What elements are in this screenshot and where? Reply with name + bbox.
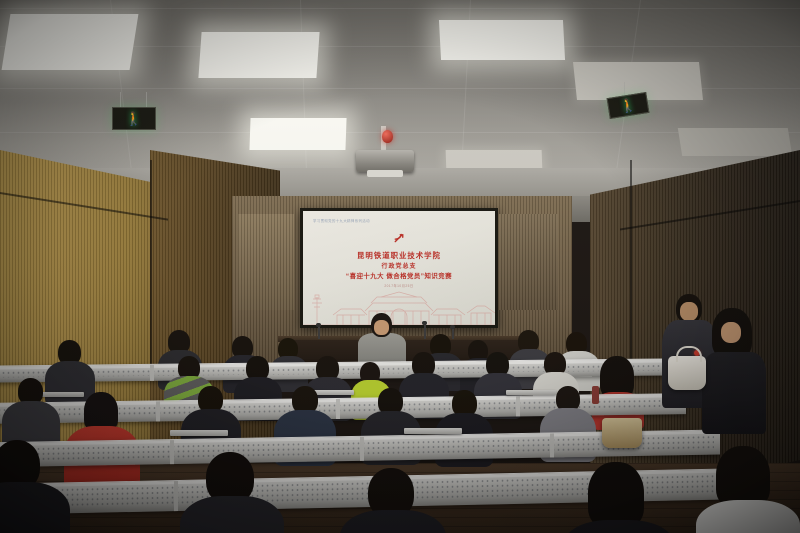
seated-speaker-face [374, 320, 389, 335]
panel-light-2 [198, 32, 319, 78]
exit-sign-right-wire [624, 82, 625, 96]
microphone-3-head [450, 325, 455, 329]
projection-screen-frame: 学习贯彻党的十九大精神系列活动 昆明铁道职业技术学院 行政党总支 “喜迎十九大 … [300, 208, 498, 328]
panel-light-1 [2, 14, 139, 70]
writing-tablet [506, 390, 556, 395]
exit-sign-left-wire-2 [146, 92, 147, 108]
microphone-2-head [422, 321, 427, 325]
water-bottle [592, 386, 599, 404]
screen-side-panel-right [498, 214, 558, 310]
running-man-icon: 🚶 [619, 98, 637, 113]
projection-screen: 学习贯彻党的十九大精神系列活动 昆明铁道职业技术学院 行政党总支 “喜迎十九大 … [303, 211, 495, 325]
handbag-handle [676, 346, 702, 362]
microphone-2 [424, 324, 426, 339]
ceiling-projector [356, 150, 414, 172]
screen-side-panel-left [238, 214, 294, 310]
panel-light-3 [439, 20, 565, 60]
tiananmen-gate-artwork [303, 287, 495, 325]
writing-tablet [404, 428, 462, 434]
wall-column-right [630, 160, 632, 360]
ceiling: 🚶 🚶 [0, 0, 800, 200]
slide-title-branch: 行政党总支 [303, 261, 495, 270]
exit-sign-left-wire [120, 92, 121, 108]
slide-title-institution: 昆明铁道职业技术学院 [303, 250, 495, 261]
wall-column-left [150, 160, 152, 365]
panel-light-4 [249, 118, 346, 150]
auditorium-scene: 🚶 🚶 学习贯彻党的十九大精神系列活动 昆明铁道职业技术学院 行政党总支 “喜迎… [0, 0, 800, 533]
microphone-1 [318, 326, 320, 339]
communist-party-emblem-icon [392, 231, 407, 246]
microphone-1-head [316, 323, 321, 327]
writing-tablet [170, 430, 228, 436]
woven-basket [602, 418, 642, 448]
exit-sign-left: 🚶 [112, 107, 156, 130]
projector-lens [367, 170, 403, 177]
running-man-icon: 🚶 [126, 112, 142, 125]
fire-alarm-light [382, 130, 393, 143]
slide-banner-text: 学习贯彻党的十九大精神系列活动 [313, 218, 370, 223]
slide-title-event: “喜迎十九大 做合格党员”知识竞赛 [303, 271, 495, 280]
microphone-3 [452, 328, 454, 339]
panel-light-7 [678, 128, 792, 156]
